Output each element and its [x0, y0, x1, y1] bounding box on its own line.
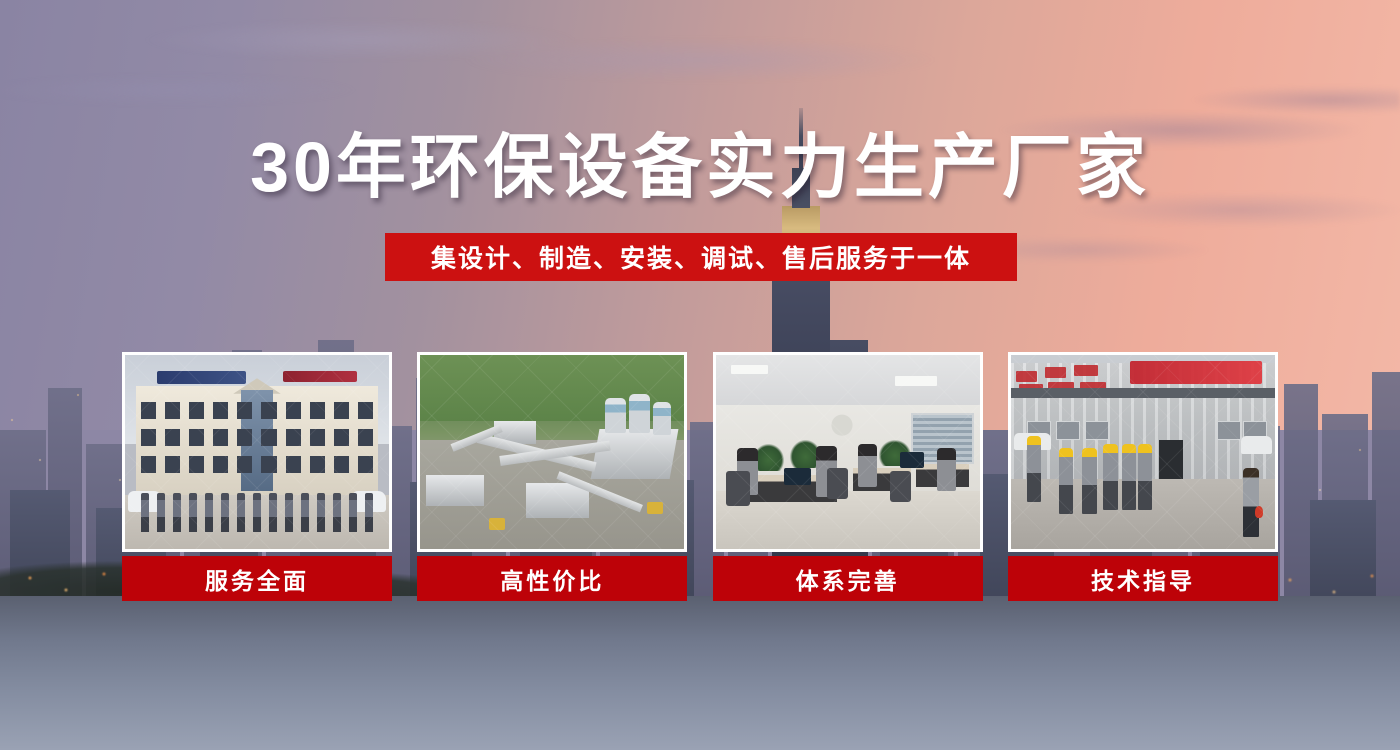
card-caption: 高性价比	[417, 556, 687, 601]
feature-card-system[interactable]: 体系完善	[713, 352, 983, 604]
card-caption: 体系完善	[713, 556, 983, 601]
card-photo-plant-aerial	[417, 352, 687, 552]
hero-banner: 30年环保设备实力生产厂家 集设计、制造、安装、调试、售后服务于一体	[0, 0, 1400, 750]
factory-signage	[1130, 361, 1262, 384]
subtitle-text: 集设计、制造、安装、调试、售后服务于一体	[431, 239, 971, 275]
feature-card-guidance[interactable]: 技术指导	[1008, 352, 1278, 604]
card-photo-office-interior	[713, 352, 983, 552]
page-title: 30年环保设备实力生产厂家	[0, 132, 1400, 202]
building-phone-number	[283, 371, 357, 383]
card-photo-office-building	[122, 352, 392, 552]
feature-card-list: 服务全面	[122, 352, 1278, 604]
card-photo-workers-factory	[1008, 352, 1278, 552]
water-reflection	[0, 600, 1400, 750]
card-caption: 技术指导	[1008, 556, 1278, 601]
building-signage	[157, 371, 247, 385]
feature-card-value[interactable]: 高性价比	[417, 352, 687, 604]
feature-card-service[interactable]: 服务全面	[122, 352, 392, 604]
subtitle-ribbon: 集设计、制造、安装、调试、售后服务于一体	[385, 233, 1017, 281]
card-caption: 服务全面	[122, 556, 392, 601]
